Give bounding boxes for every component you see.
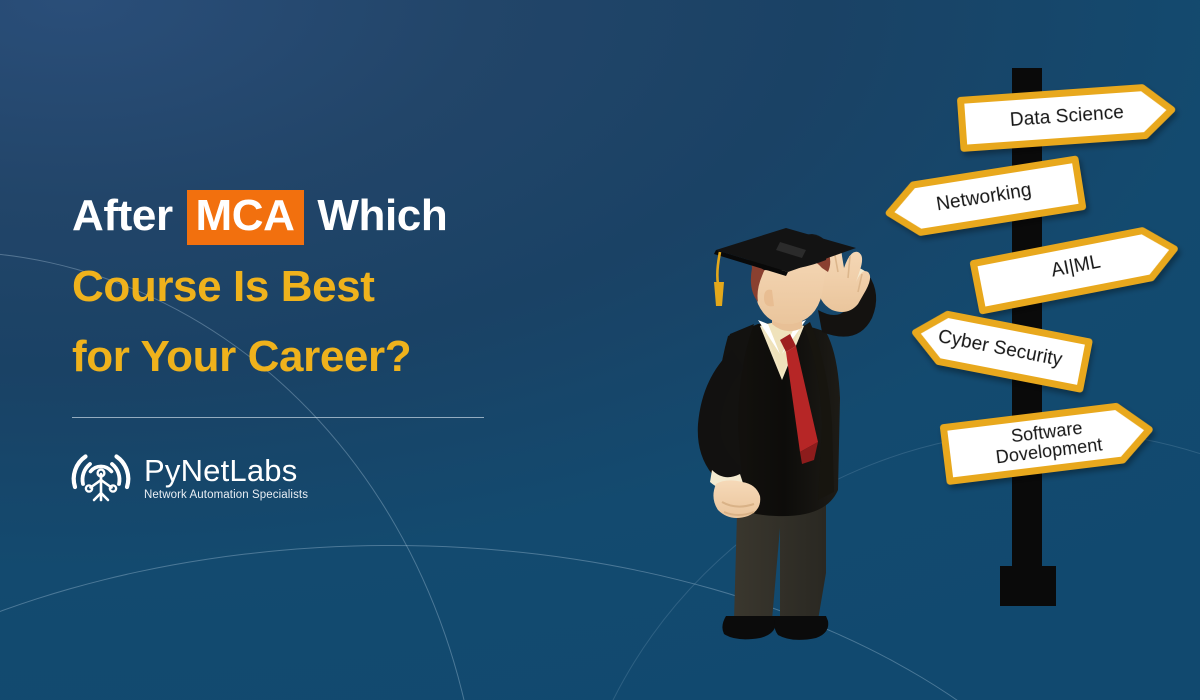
sign-data-science[interactable]: Data Science (956, 81, 1177, 152)
headline-line-3: for Your Career? (72, 329, 592, 385)
headline-divider (72, 417, 484, 418)
sign-ai-ml[interactable]: AI|ML (968, 219, 1183, 316)
brand-tagline: Network Automation Specialists (144, 489, 308, 501)
sign-cyber-security[interactable]: Cyber Security (906, 303, 1094, 394)
graduate-illustration (676, 228, 906, 658)
headline-line-2: Course Is Best (72, 259, 592, 315)
headline-line-1: After MCA Which (72, 188, 592, 245)
headline-highlight-mca: MCA (187, 190, 304, 245)
brand-text: PyNetLabs Network Automation Specialists (144, 454, 308, 501)
sign-networking[interactable]: Networking (881, 155, 1087, 242)
network-arcs-icon (70, 446, 132, 508)
headline-block: After MCA Which Course Is Best for Your … (72, 188, 592, 385)
signpost-base (1000, 566, 1056, 606)
headline-text-before: After (72, 191, 173, 240)
banner-canvas: After MCA Which Course Is Best for Your … (0, 0, 1200, 700)
brand-name: PyNetLabs (144, 454, 308, 488)
headline-text-after: Which (317, 191, 447, 240)
brand-logo: PyNetLabs Network Automation Specialists (70, 446, 308, 508)
